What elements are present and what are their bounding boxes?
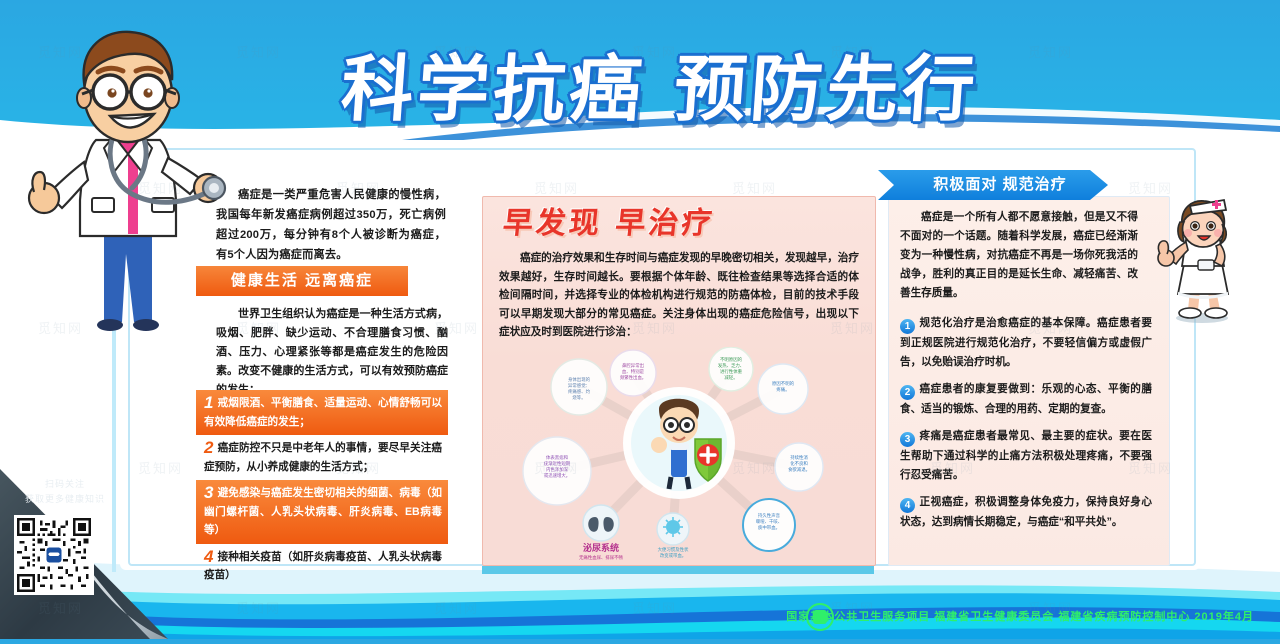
list-item-number: 4 (204, 548, 213, 567)
cancer-signals-diagram: 身体出现的 异常感觉： 疼痛感、灼 烧等。 鼻腔异常出 血、特别是 频繁性出血。… (483, 347, 875, 565)
right-panel-text: 癌症是一个所有人都不愿意接触，但是又不得不面对的一个话题。随着科学发展，癌症已经… (900, 208, 1138, 303)
svg-text:原因不明的: 原因不明的 (772, 380, 795, 387)
footer-bar: 国家基本公共卫生服务项目 福建省卫生健康委员会 福建省疾病预防控制中心 2019… (0, 595, 1280, 639)
footer-text: 国家基本公共卫生服务项目 福建省卫生健康委员会 福建省疾病预防控制中心 2019… (786, 608, 1254, 626)
list-item: 4接种相关疫苗（如肝炎病毒疫苗、人乳头状病毒疫苗） (196, 544, 448, 589)
center-panel-bottom-strip (482, 566, 874, 574)
list-item: 2癌症患者的康复要做到：乐观的心态、平衡的膳食、适当的锻炼、合理的用药、定期的复… (900, 380, 1152, 419)
right-treatment-list: 1规范化治疗是治愈癌症的基本保障。癌症患者要到正规医院进行规范化治疗，不要轻信偏… (900, 314, 1152, 540)
svg-text:无痛性血尿、排尿不畅: 无痛性血尿、排尿不畅 (579, 554, 624, 561)
svg-text:食欲减退。: 食欲减退。 (788, 466, 810, 473)
qr-caption-line2: 获取更多健康知识 (10, 492, 120, 507)
left-banner: 健康生活 远离癌症 (196, 266, 408, 296)
center-panel-title: 早发现 早治疗 (501, 203, 755, 245)
center-panel-text: 癌症的治疗效果和生存时间与癌症发现的早晚密切相关，发现越早，治疗效果越好，生存时… (499, 249, 859, 342)
svg-text:烧等。: 烧等。 (572, 394, 585, 401)
left-lead-paragraph: 世界卫生组织认为癌症是一种生活方式病，吸烟、肥胖、缺少运动、不合理膳食习惯、酗酒… (216, 305, 448, 400)
left-prevention-list: 1戒烟限酒、平衡膳食、适量运动、心情舒畅可以有效降低癌症的发生； 2癌症防控不只… (196, 390, 448, 589)
svg-text:疼痛感、灼: 疼痛感、灼 (568, 388, 591, 395)
qr-caption-line1: 扫码关注 (10, 477, 120, 492)
svg-text:大便习惯及性状: 大便习惯及性状 (658, 546, 689, 553)
list-item-number: 2 (900, 385, 915, 400)
center-panel: 早发现 早治疗 癌症的治疗效果和生存时间与癌症发现的早晚密切相关，发现越早，治疗… (482, 196, 876, 566)
svg-text:减轻。: 减轻。 (724, 374, 737, 381)
list-item-number: 1 (204, 394, 213, 413)
list-item-number: 3 (900, 432, 915, 447)
list-item: 1戒烟限酒、平衡膳食、适量运动、心情舒畅可以有效降低癌症的发生； (196, 390, 448, 435)
qr-caption: 扫码关注 获取更多健康知识 (10, 477, 120, 507)
qr-code[interactable] (14, 515, 94, 595)
svg-text:疣渐近性短期: 疣渐近性短期 (544, 460, 571, 467)
list-item: 3避免感染与癌症发生密切相关的细菌、病毒（如幽门螺杆菌、人乳头状病毒、肝炎病毒、… (196, 480, 448, 544)
list-item: 1规范化治疗是治愈癌症的基本保障。癌症患者要到正规医院进行规范化治疗，不要轻信偏… (900, 314, 1152, 372)
svg-text:持久性声音: 持久性声音 (758, 512, 781, 519)
page-title: 科学抗癌 预防先行 (287, 48, 1033, 130)
svg-text:不明原因的: 不明原因的 (720, 356, 743, 363)
list-item-text: 正视癌症，积极调整身体免疫力，保持良好身心状态，达到病情长期稳定，与癌症“和平共… (900, 496, 1152, 528)
svg-text:持续性消: 持续性消 (790, 454, 808, 461)
svg-text:异常感觉：: 异常感觉： (568, 382, 590, 389)
svg-text:改变或带血。: 改变或带血。 (660, 552, 686, 559)
svg-text:进行性体重: 进行性体重 (720, 368, 743, 375)
list-item-text: 规范化治疗是治愈癌症的基本保障。癌症患者要到正规医院进行规范化治疗，不要轻信偏方… (900, 317, 1152, 368)
svg-text:频繁性出血。: 频繁性出血。 (620, 374, 646, 381)
list-item-text: 疼痛是癌症患者最常见、最主要的症状。要在医生帮助下通过科学的止痛方法积极处理疼痛… (900, 430, 1152, 481)
list-item-number: 1 (900, 319, 915, 334)
svg-text:疼痛。: 疼痛。 (776, 386, 789, 393)
svg-text:内色泽加深: 内色泽加深 (546, 466, 569, 473)
list-item-text: 避免感染与癌症发生密切相关的细菌、病毒（如幽门螺杆菌、人乳头状病毒、肝炎病毒、E… (204, 487, 442, 536)
svg-text:嘶哑、干咳、: 嘶哑、干咳、 (756, 518, 782, 525)
list-item: 2癌症防控不只是中老年人的事情，要尽早关注癌症预防，从小养成健康的生活方式； (196, 435, 448, 480)
svg-text:化不良和: 化不良和 (790, 460, 808, 467)
svg-text:发热、乏力、: 发热、乏力、 (718, 362, 744, 369)
list-item-text: 戒烟限酒、平衡膳食、适量运动、心情舒畅可以有效降低癌症的发生； (204, 397, 442, 428)
list-item-number: 3 (204, 484, 213, 503)
svg-text:鼻腔异常出: 鼻腔异常出 (622, 362, 644, 369)
list-item-text: 癌症防控不只是中老年人的事情，要尽早关注癌症预防，从小养成健康的生活方式； (204, 442, 442, 473)
svg-text:血、特别是: 血、特别是 (622, 368, 645, 375)
svg-text:泌尿系统: 泌尿系统 (583, 542, 619, 554)
list-item: 4正视癌症，积极调整身体免疫力，保持良好身心状态，达到病情长期稳定，与癌症“和平… (900, 493, 1152, 532)
intro-paragraph: 癌症是一类严重危害人民健康的慢性病，我国每年新发癌症病例超过350万，死亡病例超… (216, 185, 446, 265)
list-item-number: 4 (900, 498, 915, 513)
poster-stage: 科学抗癌 预防先行 (0, 0, 1280, 639)
list-item: 3疼痛是癌症患者最常见、最主要的症状。要在医生帮助下通过科学的止痛方法积极处理疼… (900, 427, 1152, 485)
svg-text:痰中带血。: 痰中带血。 (758, 524, 780, 531)
right-banner: 积极面对 规范治疗 (878, 170, 1108, 200)
svg-text:身体出现的: 身体出现的 (568, 376, 591, 383)
list-item-number: 2 (204, 439, 213, 458)
svg-text:或迅速增大。: 或迅速增大。 (544, 472, 570, 479)
list-item-text: 接种相关疫苗（如肝炎病毒疫苗、人乳头状病毒疫苗） (204, 551, 442, 582)
nurse-illustration (1146, 196, 1258, 324)
list-item-text: 癌症患者的康复要做到：乐观的心态、平衡的膳食、适当的锻炼、合理的用药、定期的复查… (900, 383, 1152, 415)
svg-text:体表黑痣和: 体表黑痣和 (546, 454, 568, 461)
